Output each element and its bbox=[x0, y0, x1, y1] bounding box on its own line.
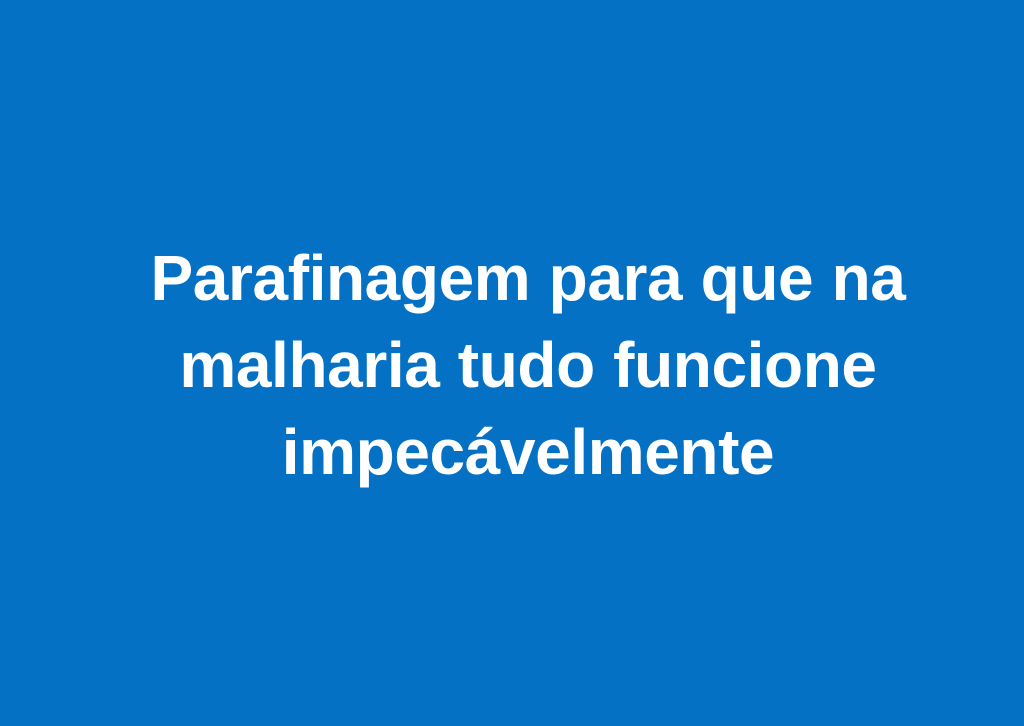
headline-text-block: Parafinagem para que na malharia tudo fu… bbox=[88, 235, 968, 496]
banner-background: Parafinagem para que na malharia tudo fu… bbox=[0, 0, 1024, 726]
headline-line-1: Parafinagem para que na bbox=[88, 235, 968, 322]
headline-line-2: malharia tudo funcione bbox=[88, 322, 968, 409]
headline-line-3: impecávelmente bbox=[88, 409, 968, 496]
